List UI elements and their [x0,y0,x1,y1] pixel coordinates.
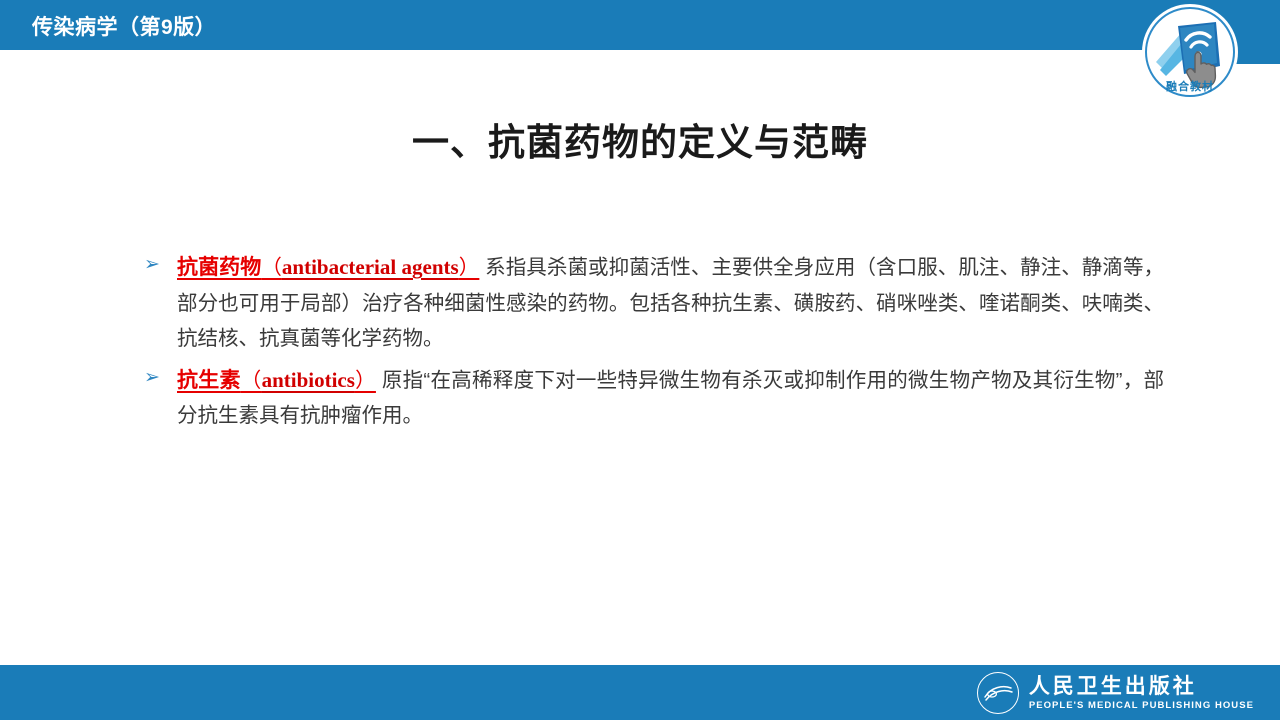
badge-label: 融合教材 [1142,78,1238,94]
term-paren-close: ） [355,369,376,392]
publisher-emblem-icon [977,672,1019,714]
term-chinese: 抗菌药物 [177,256,261,279]
footer-bar: 人民卫生出版社 PEOPLE'S MEDICAL PUBLISHING HOUS… [0,665,1280,720]
list-item: ➢ 抗生素（antibiotics） 原指“在高稀释度下对一些特异微生物有杀灭或… [144,363,1164,434]
header-bar: 传染病学（第9版） [0,0,1280,50]
term-chinese: 抗生素 [177,369,241,392]
bullet-paragraph: 抗菌药物（antibacterial agents） 系指具杀菌或抑菌活性、主要… [177,250,1164,357]
arrow-bullet-icon: ➢ [144,367,168,389]
publisher-name-cn: 人民卫生出版社 [1029,676,1254,697]
wave-emblem-icon [983,683,1013,703]
list-item: ➢ 抗菌药物（antibacterial agents） 系指具杀菌或抑菌活性、… [144,250,1164,357]
publisher-logo: 人民卫生出版社 PEOPLE'S MEDICAL PUBLISHING HOUS… [977,671,1254,715]
term-paren-close: ） [459,256,480,279]
content-body: ➢ 抗菌药物（antibacterial agents） 系指具杀菌或抑菌活性、… [144,250,1164,440]
publisher-name-en: PEOPLE'S MEDICAL PUBLISHING HOUSE [1029,701,1254,711]
term-english: antibiotics [262,368,355,392]
header-title: 传染病学（第9版） [32,11,216,41]
bullet-paragraph: 抗生素（antibiotics） 原指“在高稀释度下对一些特异微生物有杀灭或抑制… [177,363,1164,434]
term-english: antibacterial agents [282,255,459,279]
term-paren-open: （ [241,369,262,392]
term-paren-open: （ [261,256,282,279]
page-title: 一、抗菌药物的定义与范畴 [0,112,1280,166]
arrow-bullet-icon: ➢ [144,254,168,276]
fusion-textbook-badge: 融合教材 [1142,4,1238,100]
publisher-names: 人民卫生出版社 PEOPLE'S MEDICAL PUBLISHING HOUS… [1029,676,1254,711]
